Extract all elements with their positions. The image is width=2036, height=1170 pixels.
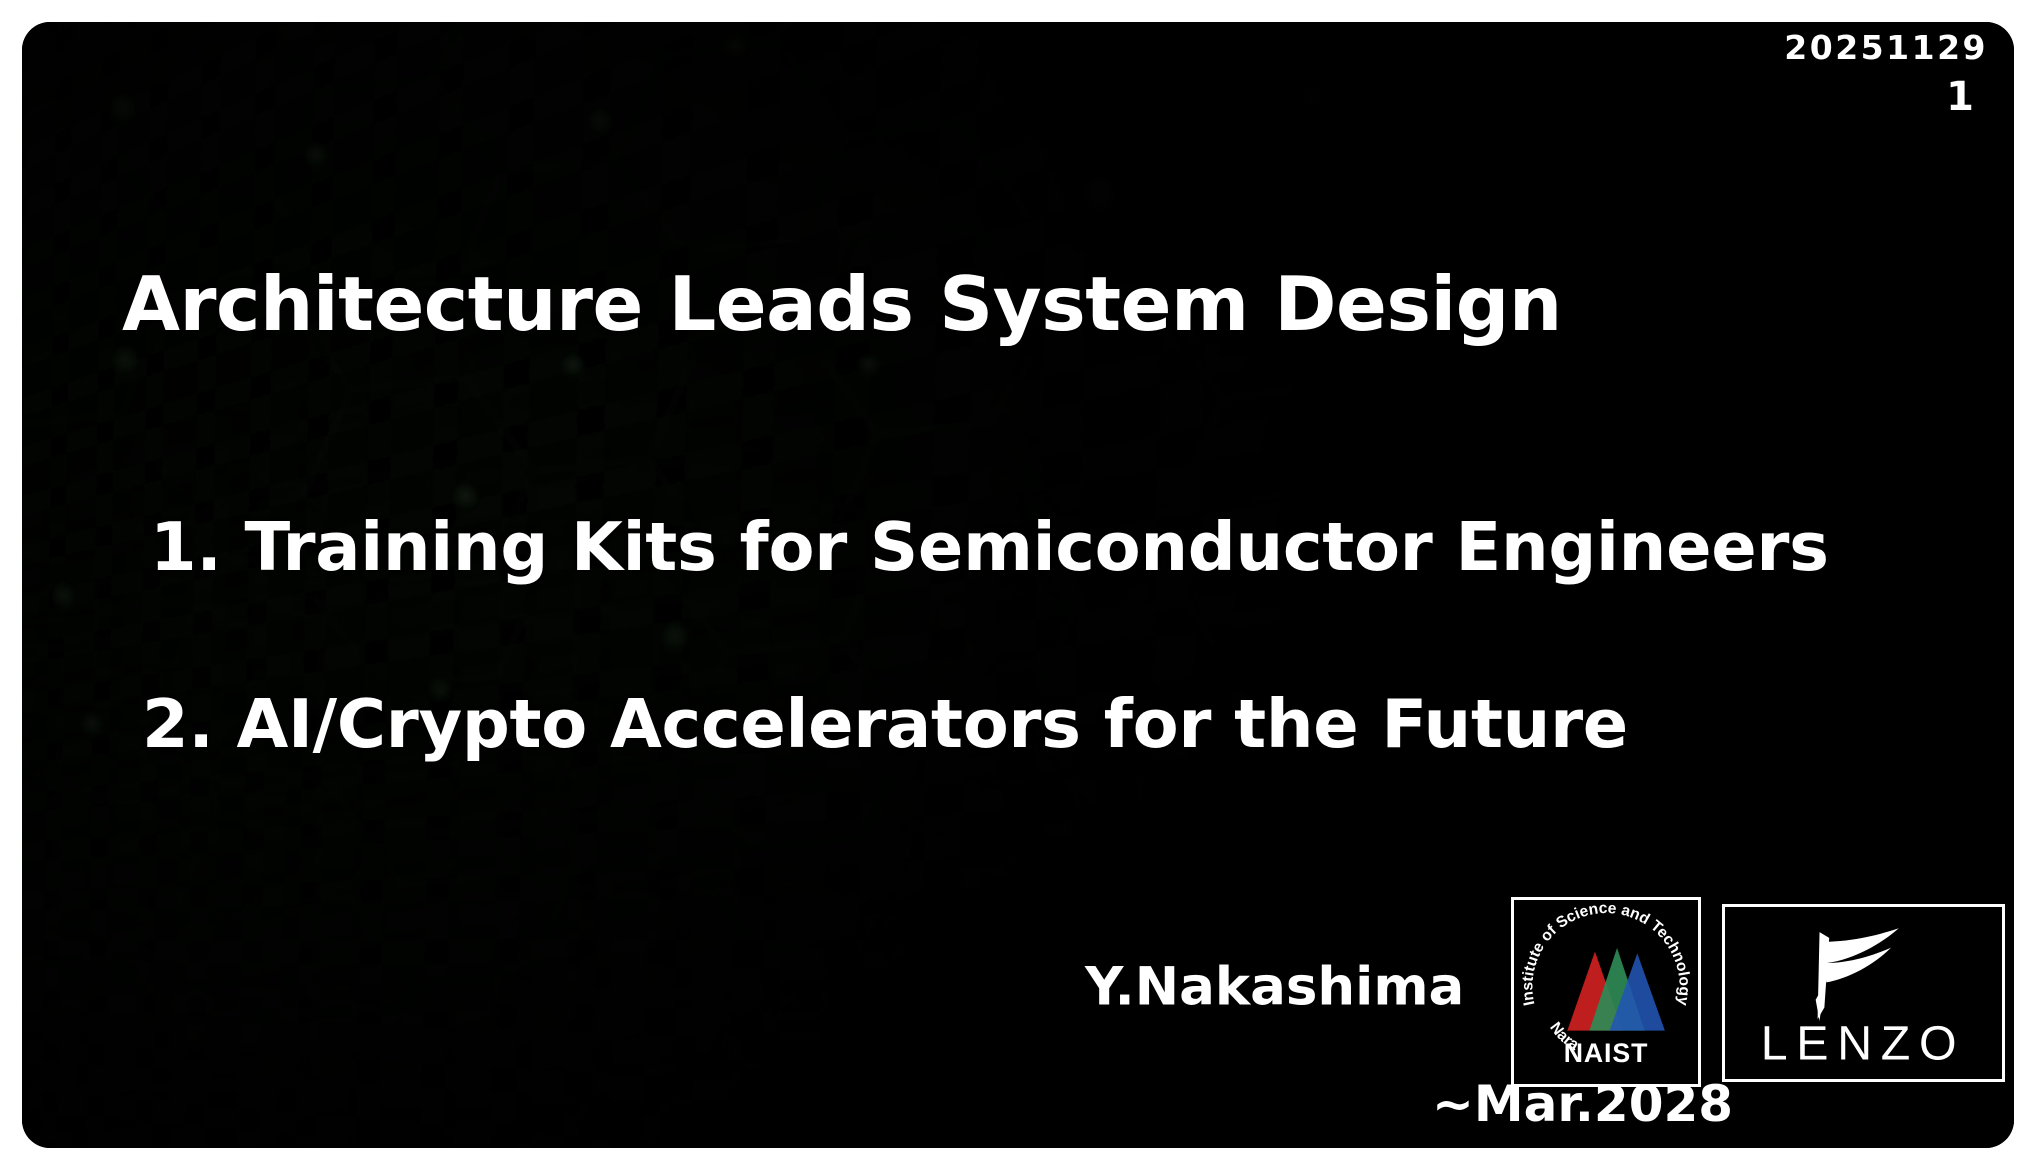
naist-acronym: NAIST xyxy=(1564,1038,1649,1068)
page-title: Architecture Leads System Design xyxy=(122,260,1562,348)
lenzo-wordmark: LENZO xyxy=(1761,1017,1966,1071)
slide-canvas: 20251129 1 Architecture Leads System Des… xyxy=(22,22,2014,1148)
slide-date: 20251129 xyxy=(1784,28,1988,67)
agenda-item-2: 2. AI/Crypto Accelerators for the Future xyxy=(142,685,1628,763)
agenda-item-1: 1. Training Kits for Semiconductor Engin… xyxy=(150,508,1829,586)
page-number: 1 xyxy=(1946,74,1974,120)
author-name: Y.Nakashima xyxy=(1085,957,1464,1018)
lenzo-logo: LENZO xyxy=(1722,904,2005,1082)
naist-logo: Institute of Science and Technology Nara… xyxy=(1511,897,1701,1087)
